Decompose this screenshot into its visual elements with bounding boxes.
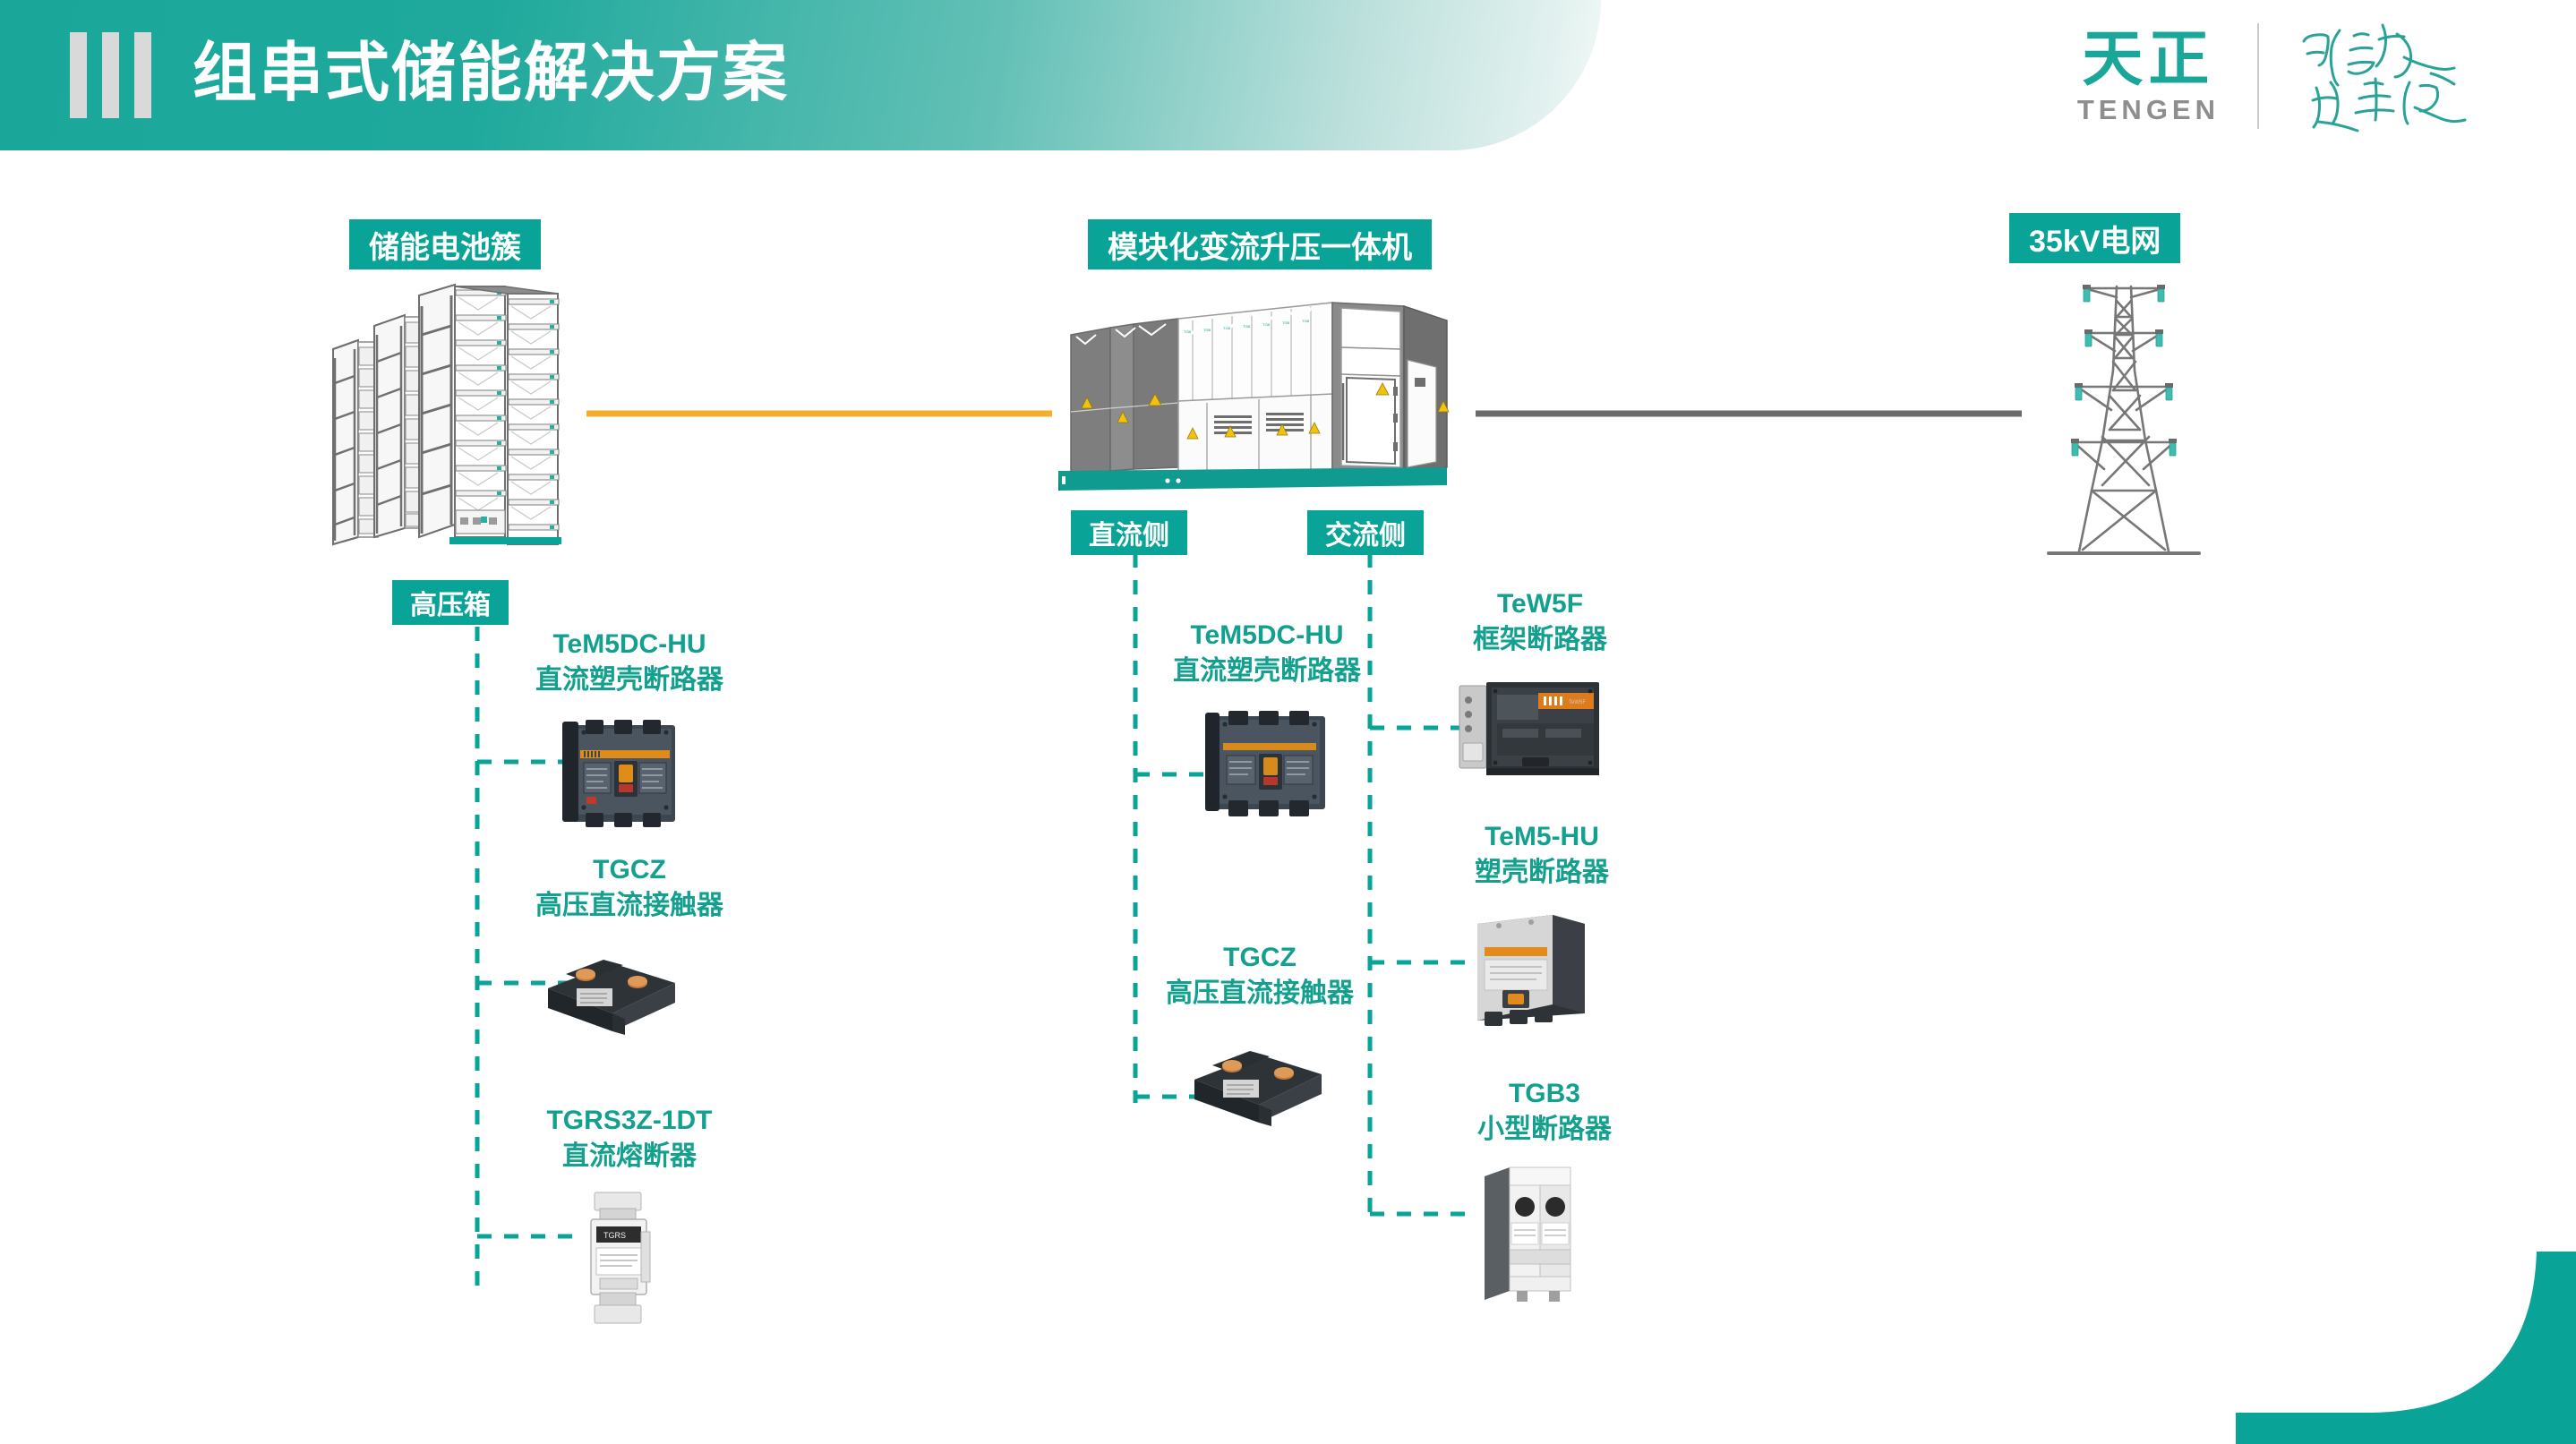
chip-converter: 模块化变流升压一体机 <box>1088 219 1432 269</box>
svg-text:TGB: TGB <box>1302 319 1310 323</box>
product-label-2-0: TeW5F 框架断路器 <box>1433 586 1647 658</box>
chip-ac-side: 交流侧 <box>1307 510 1424 555</box>
acb-frame-icon: TeW5F <box>1445 673 1624 785</box>
product-label-0-1: TGCZ 高压直流接触器 <box>518 852 741 924</box>
chip-dc-side: 直流侧 <box>1071 510 1187 555</box>
mccb-ac-icon <box>1447 904 1608 1030</box>
svg-text:TGB: TGB <box>1282 320 1290 325</box>
svg-text:TGRS: TGRS <box>603 1231 626 1240</box>
logo-english-name: TENGEN <box>2077 94 2220 126</box>
chip-battery-cluster: 储能电池簇 <box>349 219 541 269</box>
logo-divider <box>2257 23 2259 129</box>
product-label-1-1: TGCZ 高压直流接触器 <box>1130 940 1390 1012</box>
svg-text:TGB: TGB <box>1203 328 1211 332</box>
svg-text:TGB: TGB <box>1223 326 1231 330</box>
product-label-1-0: TeM5DC-HU 直流塑壳断路器 <box>1146 618 1388 689</box>
transmission-tower-icon <box>2016 265 2231 560</box>
svg-text:TGB: TGB <box>1184 329 1192 334</box>
svg-text:TGB: TGB <box>1243 324 1251 329</box>
converter-container-icon: TGBTGBTGB TGBTGBTGB TGB <box>1046 301 1476 494</box>
battery-rack-icon <box>319 276 596 580</box>
product-label-2-2: TGB3 小型断路器 <box>1451 1076 1639 1148</box>
mccb-dc-icon <box>1191 707 1352 824</box>
product-label-0-2: TGRS3Z-1DT 直流熔断器 <box>509 1103 750 1175</box>
svg-text:TeW5F: TeW5F <box>1569 700 1586 705</box>
brand-logo: 天正 TENGEN <box>2077 18 2520 134</box>
header-bar-1 <box>70 32 87 118</box>
mcb-mini-icon <box>1458 1157 1592 1309</box>
chip-hv-box: 高压箱 <box>392 580 509 625</box>
svg-text:TGB: TGB <box>1262 322 1271 327</box>
corner-decoration <box>2236 1252 2576 1444</box>
header-bar-2 <box>102 32 119 118</box>
logo-chinese-name: 天正 <box>2082 26 2214 92</box>
logo-mark: 天正 TENGEN <box>2077 26 2220 126</box>
product-label-0-0: TeM5DC-HU 直流塑壳断路器 <box>518 627 741 698</box>
dc-fuse-icon: TGRS <box>564 1187 680 1330</box>
page-header: 组串式储能解决方案 <box>0 0 1601 150</box>
dc-contactor-icon <box>526 936 697 1044</box>
product-label-2-1: TeM5-HU 塑壳断路器 <box>1443 819 1640 891</box>
mccb-dc-icon <box>544 718 706 830</box>
three-bars-icon <box>70 32 151 118</box>
handwritten-slogan-icon <box>2297 18 2520 134</box>
header-bar-3 <box>134 32 151 118</box>
chip-grid: 35kV电网 <box>2009 213 2180 263</box>
dc-contactor-icon <box>1173 1028 1343 1135</box>
page-title: 组串式储能解决方案 <box>193 27 789 120</box>
